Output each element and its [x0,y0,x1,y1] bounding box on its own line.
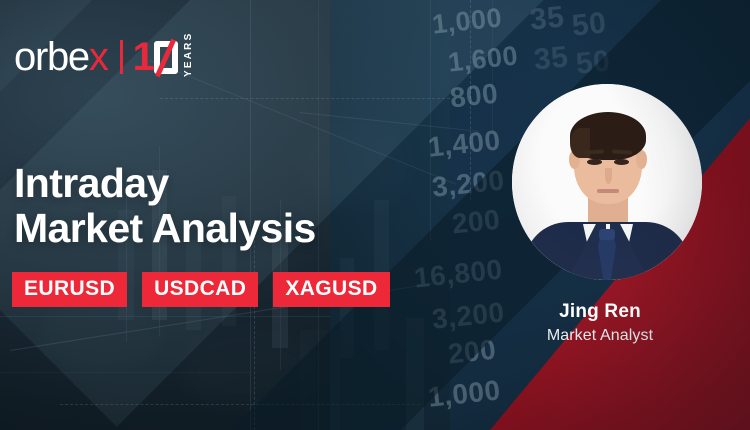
promo-banner: 1,000 1,600 800 1,400 3,200 200 16,800 3… [0,0,750,430]
badge-usdcad[interactable]: USDCAD [142,272,258,307]
bg-number: 35 [532,40,570,77]
badge-xagusd[interactable]: XAGUSD [273,272,389,307]
bg-number: 50 [570,6,608,43]
logo-x-accent: x [89,35,108,79]
analyst-name: Jing Ren [470,300,730,324]
bg-number: 1,400 [427,124,503,163]
anniversary-digit-one: 1 [133,37,153,77]
title-line-1: Intraday [14,160,169,206]
page-title: Intraday Market Analysis [14,161,316,250]
anniversary-10-mark: 1 [133,37,178,77]
badge-eurusd[interactable]: EURUSD [12,272,127,307]
logo-wordmark: orbex [14,37,108,77]
logo-divider-bar [120,40,123,74]
orbex-logo[interactable]: orbex 1 YEARS [14,34,194,80]
avatar [512,84,702,280]
anniversary-digit-zero [154,41,178,74]
analyst-credit: Jing Ren Market Analyst [470,300,730,347]
avatar-shading [512,84,702,280]
analyst-role: Market Analyst [470,325,730,347]
anniversary-years-label: YEARS [183,37,194,77]
logo-wordmark-text: orbe [14,35,89,79]
title-line-2: Market Analysis [14,206,316,250]
instrument-badges: EURUSD USDCAD XAGUSD [12,272,390,307]
